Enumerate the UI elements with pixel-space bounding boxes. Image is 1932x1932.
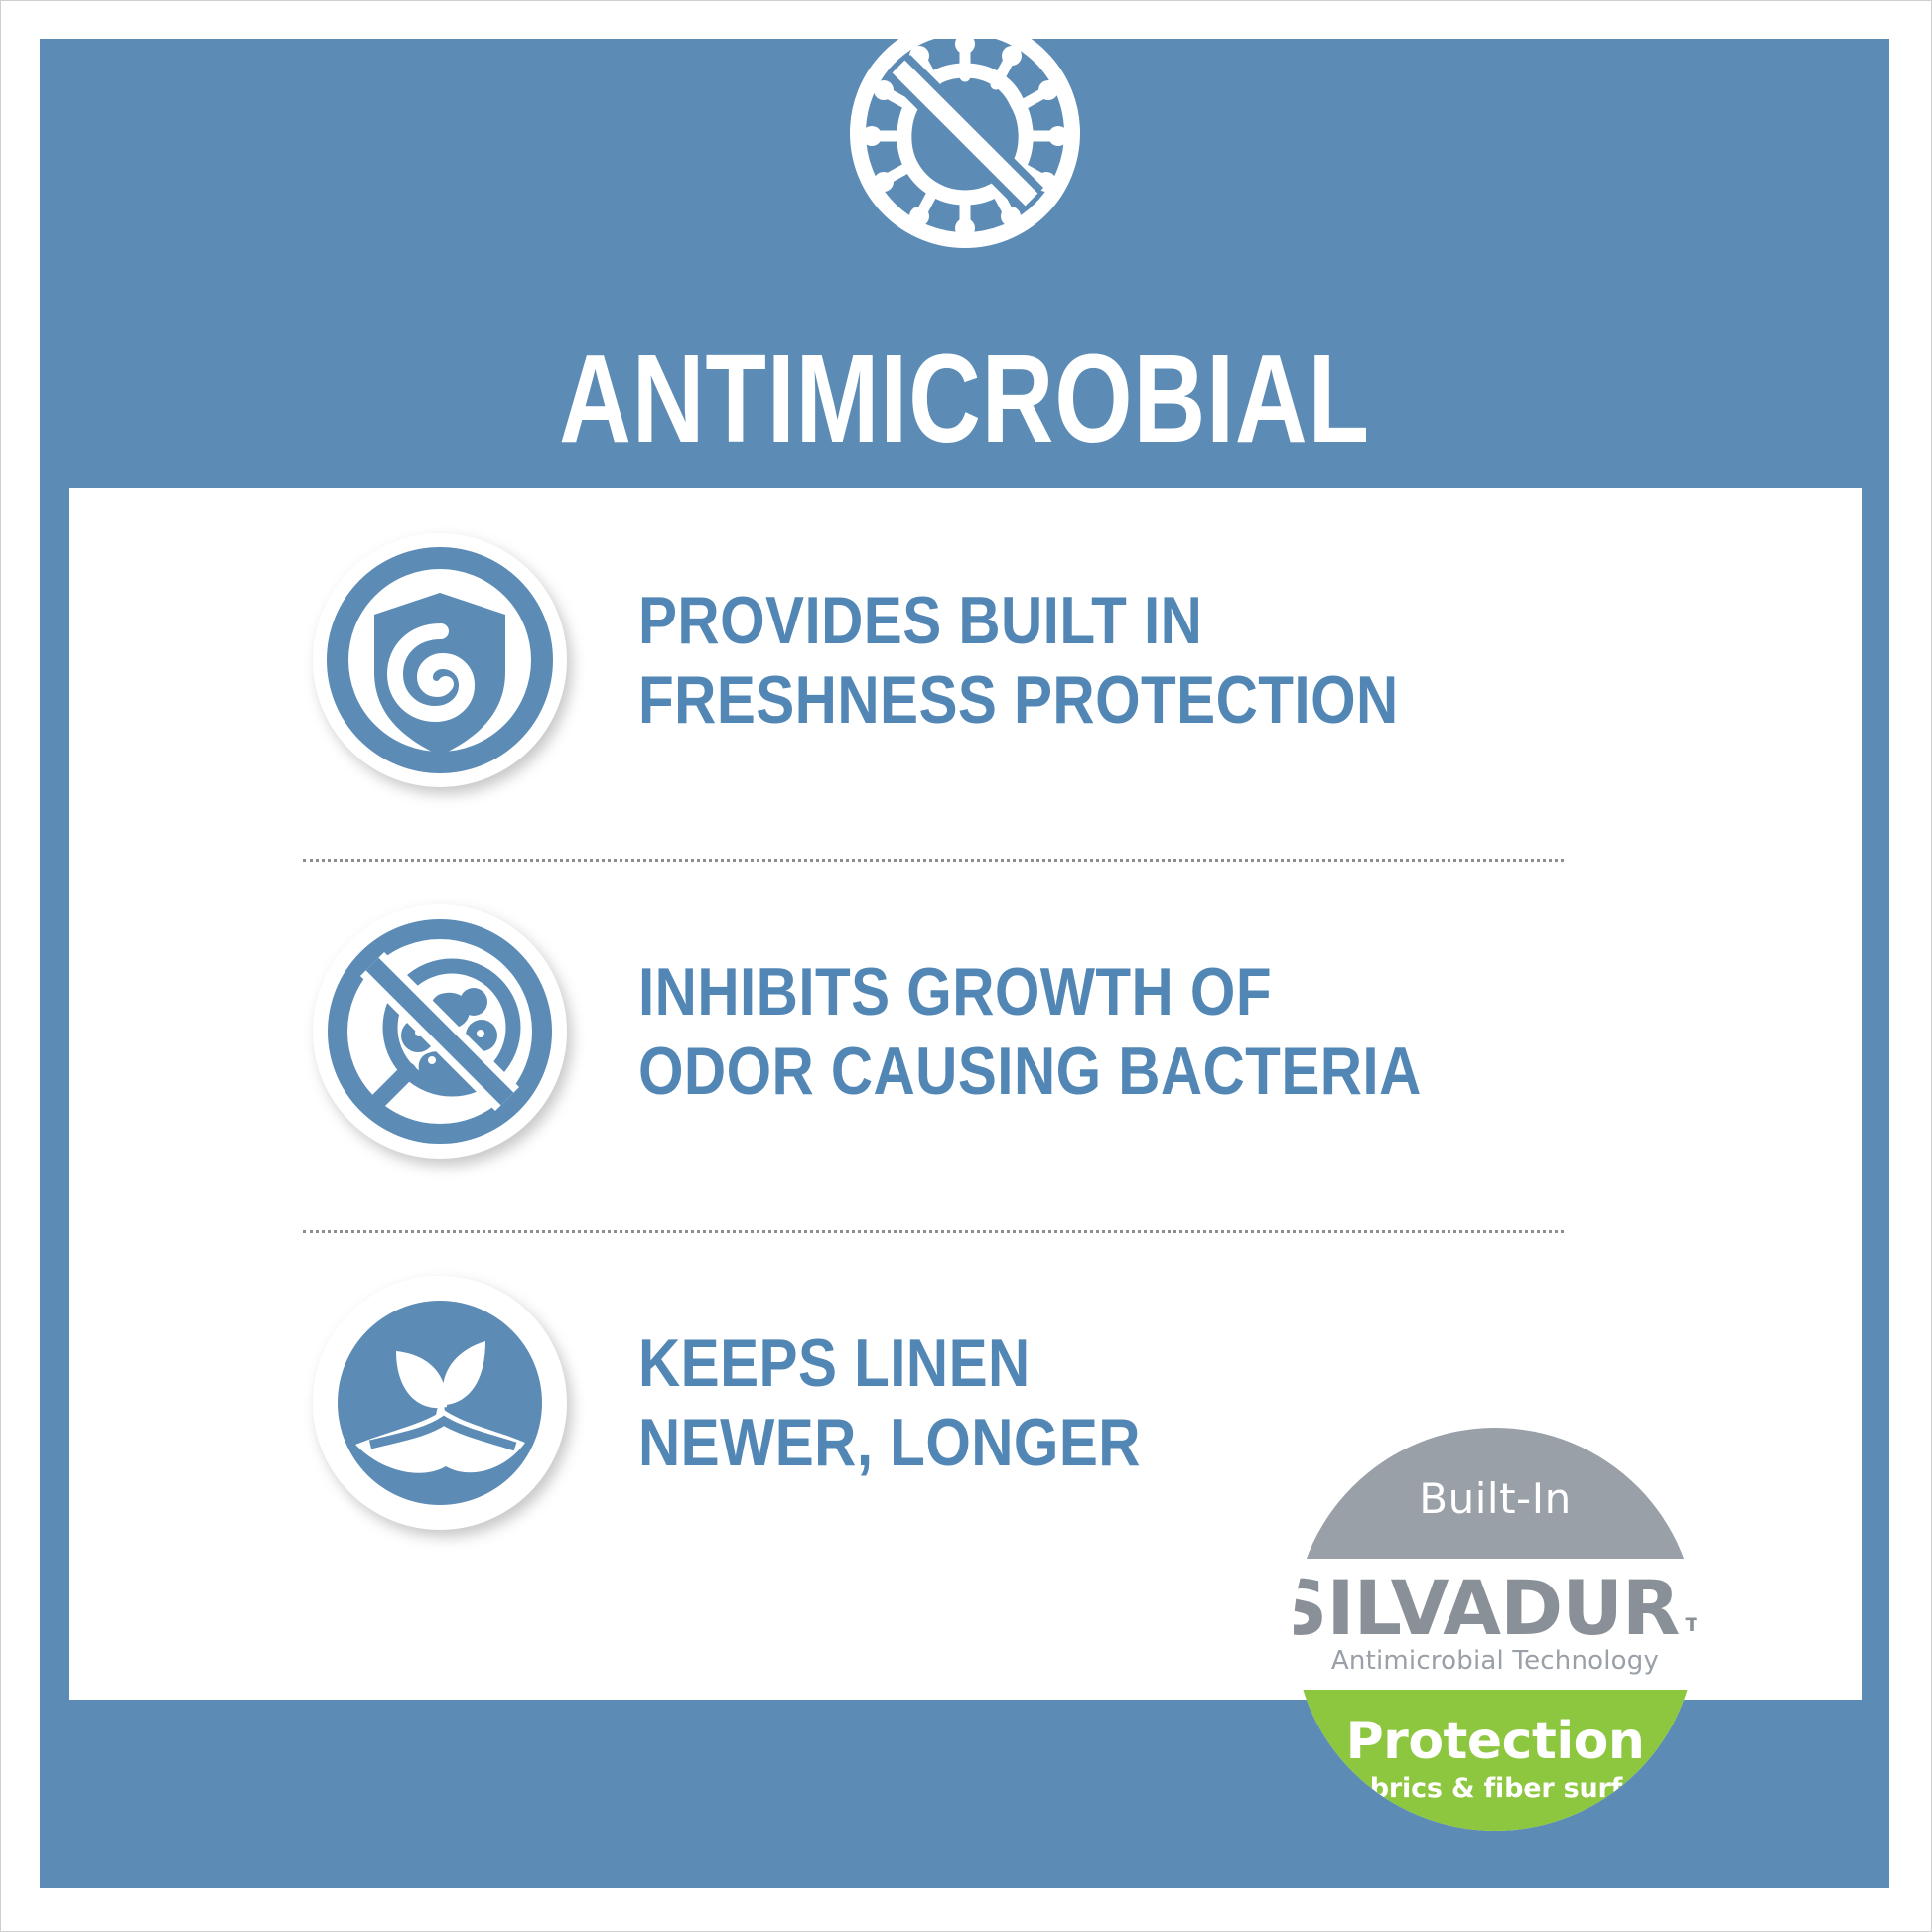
seal-top-band: Built-In <box>1294 1428 1697 1559</box>
no-bacteria-magnifier-icon <box>311 902 569 1161</box>
virus-blocked-icon <box>841 9 1089 257</box>
silvadur-seal: Built-In SILVADUR TM Antimicrobial Techn… <box>1294 1428 1697 1831</box>
silvadur-wordmark-text: SILVADUR <box>1294 1573 1679 1644</box>
feature-row: PROVIDES BUILT IN FRESHNESS PROTECTION <box>69 496 1862 824</box>
feature-label: PROVIDES BUILT IN FRESHNESS PROTECTION <box>638 581 1399 740</box>
shield-protection-icon <box>311 531 569 789</box>
feature-label: INHIBITS GROWTH OF ODOR CAUSING BACTERIA <box>638 952 1422 1111</box>
seal-bottom-band: Protection to fabrics & fiber surfaces <box>1294 1690 1697 1831</box>
page-title: ANTIMICROBIAL <box>224 337 1704 462</box>
hero-header: ANTIMICROBIAL <box>40 39 1889 490</box>
section-divider <box>303 859 1564 862</box>
section-divider <box>303 1230 1564 1233</box>
silvadur-wordmark: SILVADUR TM <box>1294 1573 1697 1644</box>
feature-label: KEEPS LINEN NEWER, LONGER <box>638 1323 1141 1482</box>
silvadur-tagline: Antimicrobial Technology <box>1331 1646 1659 1676</box>
seal-built-in-label: Built-In <box>1419 1474 1571 1523</box>
feature-row: INHIBITS GROWTH OF ODOR CAUSING BACTERIA <box>69 868 1862 1195</box>
leaf-sprout-icon <box>311 1274 569 1532</box>
seal-protection-sublabel: to fabrics & fiber surfaces <box>1301 1773 1690 1804</box>
seal-middle-band: SILVADUR TM Antimicrobial Technology <box>1294 1559 1697 1690</box>
seal-protection-label: Protection <box>1346 1716 1645 1767</box>
trademark-symbol: TM <box>1685 1616 1697 1634</box>
